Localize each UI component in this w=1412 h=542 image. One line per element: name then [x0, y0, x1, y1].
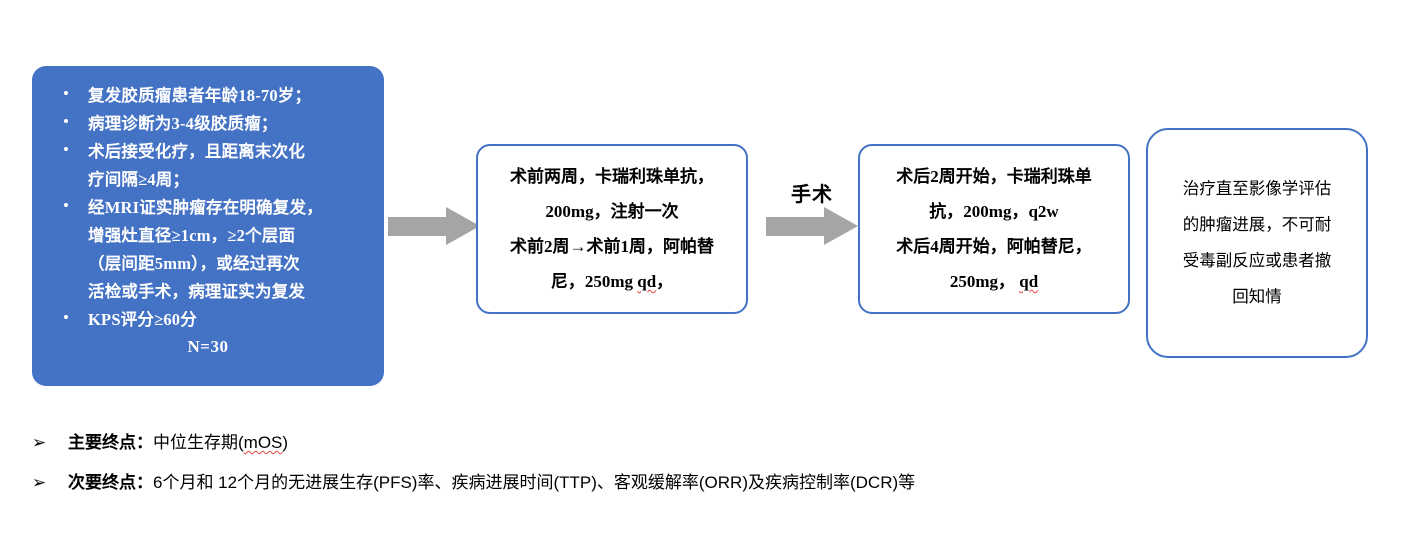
list-item: 术后接受化疗，且距离末次化	[42, 138, 374, 165]
preop-line-2: 200mg，注射一次	[484, 194, 740, 229]
until-line-3: 受毒副反应或患者撤	[1154, 243, 1360, 279]
arrow-bullet-icon: ➢	[32, 430, 46, 456]
bullet-dot-icon	[64, 119, 68, 123]
eligibility-item-text: 病理诊断为3-4级胶质瘤；	[88, 114, 278, 133]
eligibility-item-text: 术后接受化疗，且距离末次化	[88, 142, 305, 161]
list-item: 复发胶质瘤患者年龄18-70岁；	[42, 82, 374, 109]
list-item-continuation: 疗间隔≥4周；	[42, 166, 374, 193]
sample-size-label: N=30	[42, 337, 374, 357]
list-item: KPS评分≥60分	[42, 306, 374, 333]
eligibility-item-text: 活检或手术，病理证实为复发	[88, 282, 305, 301]
eligibility-criteria-box: 复发胶质瘤患者年龄18-70岁； 病理诊断为3-4级胶质瘤； 术后接受化疗，且距…	[32, 66, 384, 386]
study-design-diagram: 复发胶质瘤患者年龄18-70岁； 病理诊断为3-4级胶质瘤； 术后接受化疗，且距…	[0, 0, 1412, 542]
bullet-dot-icon	[64, 203, 68, 207]
arrow-shaft	[388, 217, 448, 236]
bullet-dot-icon	[64, 315, 68, 319]
arrow-shaft	[766, 217, 826, 236]
surgery-step-label: 手术	[766, 178, 858, 207]
eligibility-item-text: 经MRI证实肿瘤存在明确复发，	[88, 198, 323, 217]
treatment-duration-text: 治疗直至影像学评估 的肿瘤进展，不可耐 受毒副反应或患者撤 回知情	[1148, 171, 1366, 315]
spellcheck-term: qd	[1019, 272, 1038, 291]
preop-line-3: 术前2周→术前1周，阿帕替	[484, 229, 740, 264]
list-item: 病理诊断为3-4级胶质瘤；	[42, 110, 374, 137]
bullet-dot-icon	[64, 91, 68, 95]
arrow-bullet-icon: ➢	[32, 470, 46, 496]
postop-line-3: 术后4周开始，阿帕替尼，	[866, 229, 1122, 264]
postoperative-treatment-box: 术后2周开始，卡瑞利珠单 抗，200mg，q2w 术后4周开始，阿帕替尼， 25…	[858, 144, 1130, 314]
secondary-endpoint-text: 6个月和 12个月的无进展生存(PFS)率、疾病进展时间(TTP)、客观缓解率(…	[153, 473, 915, 492]
primary-endpoint-row: ➢ 主要终点：中位生存期(mOS)	[24, 430, 1384, 456]
spellcheck-term: mOS	[244, 433, 283, 452]
until-line-1: 治疗直至影像学评估	[1154, 171, 1360, 207]
until-line-2: 的肿瘤进展，不可耐	[1154, 207, 1360, 243]
eligibility-criteria-list: 复发胶质瘤患者年龄18-70岁； 病理诊断为3-4级胶质瘤； 术后接受化疗，且距…	[42, 82, 374, 333]
preop-line-4: 尼，250mg qd，	[484, 264, 740, 299]
flow-arrow-to-preop-icon	[388, 207, 480, 246]
eligibility-item-text: KPS评分≥60分	[88, 310, 197, 329]
arrow-head	[446, 207, 480, 245]
secondary-endpoint-label: 次要终点：	[68, 473, 153, 492]
list-item: 经MRI证实肿瘤存在明确复发，	[42, 194, 374, 221]
list-item-continuation: 活检或手术，病理证实为复发	[42, 278, 374, 305]
treatment-duration-box: 治疗直至影像学评估 的肿瘤进展，不可耐 受毒副反应或患者撤 回知情	[1146, 128, 1368, 358]
postop-line-2: 抗，200mg，q2w	[866, 194, 1122, 229]
secondary-endpoint-row: ➢ 次要终点：6个月和 12个月的无进展生存(PFS)率、疾病进展时间(TTP)…	[24, 470, 1384, 496]
until-line-4: 回知情	[1154, 279, 1360, 315]
arrow-head	[824, 207, 858, 245]
primary-endpoint-text: 中位生存期(mOS)	[153, 433, 288, 452]
endpoints-section: ➢ 主要终点：中位生存期(mOS) ➢ 次要终点：6个月和 12个月的无进展生存…	[24, 430, 1384, 510]
eligibility-item-text: （层间距5mm），或经过再次	[88, 254, 300, 273]
postop-line-1: 术后2周开始，卡瑞利珠单	[866, 159, 1122, 194]
postop-line-4: 250mg， qd	[866, 264, 1122, 299]
list-item-continuation: （层间距5mm），或经过再次	[42, 250, 374, 277]
spellcheck-term: qd	[637, 272, 656, 291]
list-item-continuation: 增强灶直径≥1cm，≥2个层面	[42, 222, 374, 249]
eligibility-item-text: 疗间隔≥4周；	[88, 170, 189, 189]
preop-line-1: 术前两周，卡瑞利珠单抗，	[484, 159, 740, 194]
flow-arrow-to-postop-icon	[766, 207, 858, 246]
eligibility-item-text: 增强灶直径≥1cm，≥2个层面	[88, 226, 295, 245]
preoperative-treatment-text: 术前两周，卡瑞利珠单抗， 200mg，注射一次 术前2周→术前1周，阿帕替 尼，…	[478, 159, 746, 299]
postoperative-treatment-text: 术后2周开始，卡瑞利珠单 抗，200mg，q2w 术后4周开始，阿帕替尼， 25…	[860, 159, 1128, 299]
bullet-dot-icon	[64, 147, 68, 151]
preoperative-treatment-box: 术前两周，卡瑞利珠单抗， 200mg，注射一次 术前2周→术前1周，阿帕替 尼，…	[476, 144, 748, 314]
eligibility-item-text: 复发胶质瘤患者年龄18-70岁；	[88, 86, 311, 105]
primary-endpoint-label: 主要终点：	[68, 433, 153, 452]
